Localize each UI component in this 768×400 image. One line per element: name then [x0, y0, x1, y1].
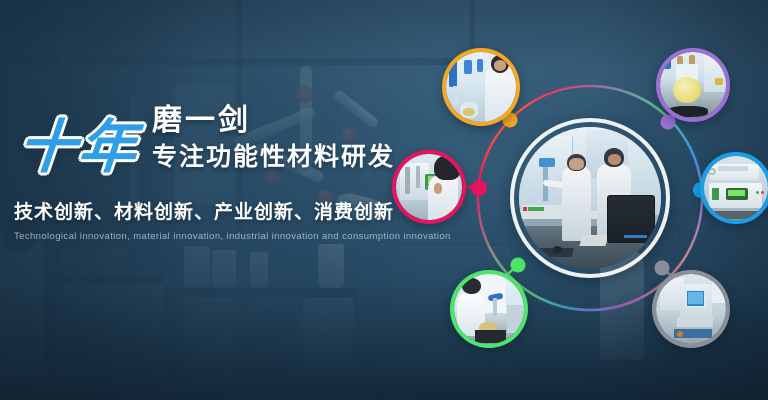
satellite-photo-bottom-left[interactable] — [450, 270, 528, 348]
satellite-photo-top-left[interactable] — [442, 48, 520, 126]
tagline-chinese: 技术创新、材料创新、产业创新、消费创新 — [14, 197, 414, 224]
satellite-photo-inner — [704, 156, 768, 220]
satellite-photo-top-right[interactable] — [656, 48, 730, 122]
brush-calligraphy-text: 十年 — [12, 120, 147, 177]
satellite-photo-inner — [454, 274, 524, 344]
headline-right-column: 磨一剑 专注功能性材料研发 — [152, 104, 395, 177]
node-dot-magenta — [471, 180, 487, 196]
headline-line-2: 专注功能性材料研发 — [152, 142, 395, 173]
photo-circle-cluster — [400, 30, 768, 400]
satellite-photo-inner — [656, 274, 726, 344]
satellite-photo-inner — [396, 154, 462, 220]
headline-line-1: 磨一剑 — [152, 104, 395, 138]
headline-block: 十年 磨一剑 专注功能性材料研发 技术创新、材料创新、产业创新、消费创新 Tec… — [14, 104, 414, 242]
promo-banner: 十年 磨一剑 专注功能性材料研发 技术创新、材料创新、产业创新、消费创新 Tec… — [0, 0, 768, 400]
hub-white-ring — [510, 118, 670, 278]
satellite-photo-inner — [660, 52, 726, 118]
tagline-english: Technological innovation, material innov… — [14, 231, 414, 242]
headline-row: 十年 磨一剑 专注功能性材料研发 — [14, 104, 414, 177]
central-hub[interactable] — [510, 118, 670, 278]
satellite-photo-left[interactable] — [392, 150, 466, 224]
satellite-photo-inner — [446, 52, 516, 122]
satellite-photo-right[interactable] — [700, 152, 768, 224]
satellite-photo-bottom-right[interactable] — [652, 270, 730, 348]
